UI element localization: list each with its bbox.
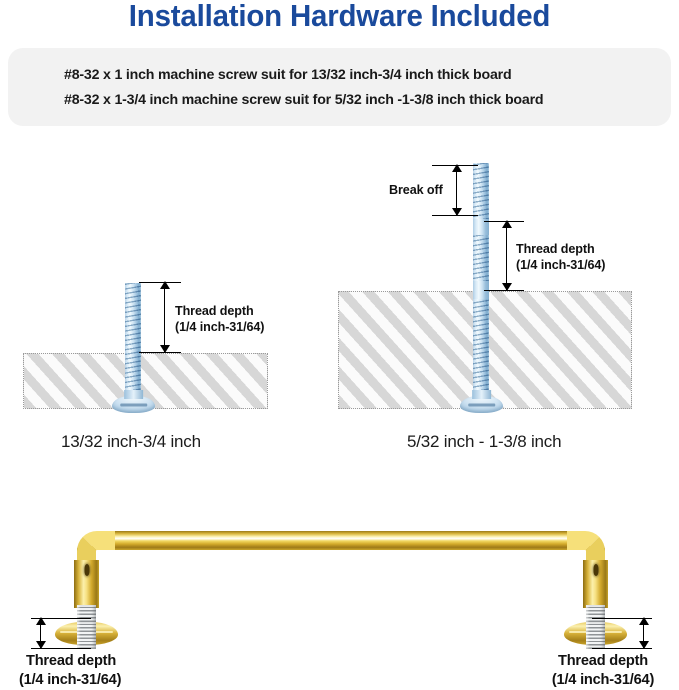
left-screw-head [112,396,155,413]
handle-left-thread-depth-label: Thread depth (1/4 inch-31/64) [26,652,121,690]
screw-neck [124,390,144,399]
left-thread-depth-line2: (1/4 inch-31/64) [175,319,264,335]
left-thread-depth-label: Thread depth (1/4 inch-31/64) [175,303,264,335]
infographic-canvas: Installation Hardware Included #8-32 x 1… [0,0,679,690]
right-thread-depth-label: Thread depth (1/4 inch-31/64) [516,241,605,273]
arrow-up-icon [639,617,649,625]
spec-line-2: #8-32 x 1-3/4 inch machine screw suit fo… [64,92,543,108]
handle-right-dimension-line [643,618,644,648]
handle-right-post [583,560,608,608]
right-thread-depth-dimension-line [506,221,507,290]
handle-left-label-line2: (1/4 inch-31/64) [19,671,121,690]
post-dimple [593,564,598,576]
right-thread-depth-line2: (1/4 inch-31/64) [516,257,605,273]
spec-info-box: #8-32 x 1 inch machine screw suit for 13… [8,48,671,126]
screw-threads [125,283,141,399]
spec-line-1: #8-32 x 1 inch machine screw suit for 13… [64,67,511,83]
handle-right-label-line1: Thread depth [533,652,673,671]
arrow-up-icon [160,281,170,289]
right-board-caption: 5/32 inch - 1-3/8 inch [407,432,561,452]
handle-left-label-line1: Thread depth [26,652,121,671]
break-off-label: Break off [389,182,443,198]
page-title: Installation Hardware Included [17,0,662,34]
screw-head-slot [468,403,496,406]
left-machine-screw [125,283,141,399]
handle-right-label-line2: (1/4 inch-31/64) [533,671,673,690]
arrow-up-icon [502,220,512,228]
arrow-down-icon [452,208,462,216]
arrow-up-icon [36,617,46,625]
screw-threads [473,163,489,219]
left-thread-depth-line1: Thread depth [175,303,264,319]
arrow-up-icon [452,164,462,172]
handle-top-bar [95,531,587,550]
left-thread-depth-dimension-line [164,282,165,352]
arrow-down-icon [160,345,170,353]
right-thread-depth-line1: Thread depth [516,241,605,257]
arrow-down-icon [502,283,512,291]
arrow-down-icon [639,641,649,649]
handle-left-stud-front [77,622,96,649]
handle-right-stud-front [586,622,605,649]
screw-head-slot [120,403,148,406]
post-dimple [84,564,89,576]
screw-threads [473,299,489,399]
screw-threads [473,235,489,281]
handle-left-dimension-line [40,618,41,648]
handle-left-post [74,560,99,608]
break-off-dimension-line [456,165,457,215]
left-board-caption: 13/32 inch-3/4 inch [61,432,201,452]
handle-right-thread-depth-label: Thread depth (1/4 inch-31/64) [533,652,673,690]
screw-neck [472,390,492,399]
arrow-down-icon [36,641,46,649]
right-screw-head [460,396,503,413]
right-machine-screw [473,163,489,399]
